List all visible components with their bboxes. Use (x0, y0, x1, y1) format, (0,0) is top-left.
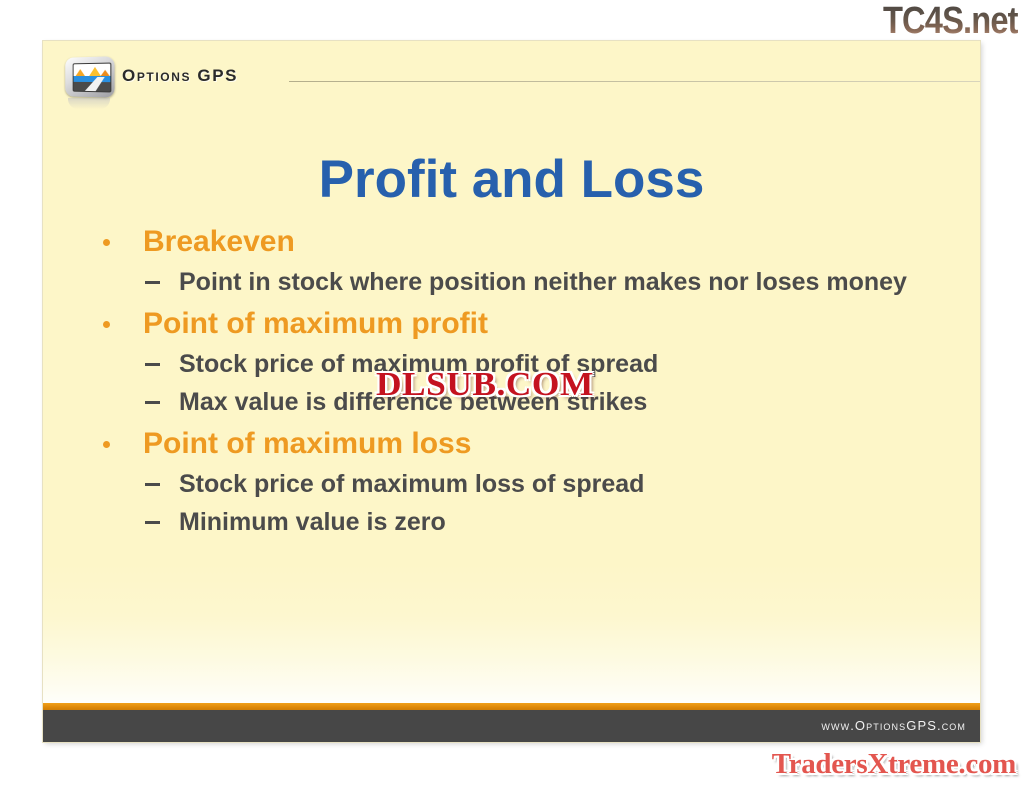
bullet-dash-icon (145, 483, 160, 486)
bullet-level1: Point of maximum loss (95, 424, 955, 464)
bullet-group-breakeven: Breakeven Point in stock where position … (95, 222, 955, 300)
slide-header: Options GPS (43, 41, 980, 103)
bullet-level2-label: Stock price of maximum loss of spread (179, 470, 644, 498)
bullet-level2-label: Minimum value is zero (179, 508, 446, 536)
bullet-level2: Minimum value is zero (95, 504, 955, 540)
bullet-level1-label: Breakeven (143, 225, 295, 258)
gps-device-screen (73, 63, 112, 93)
bullet-level2-label: Point in stock where position neither ma… (179, 268, 907, 296)
dlsub-watermark: DLSUB.COM (376, 366, 594, 404)
bullet-level1-label: Point of maximum profit (143, 307, 488, 340)
slide-footer: www.OptionsGPS.com (43, 710, 980, 742)
bullet-dot-icon (103, 239, 110, 246)
slide-title: Profit and Loss (43, 149, 980, 210)
bullet-level2: Stock price of maximum loss of spread (95, 466, 955, 502)
bullet-level1: Point of maximum profit (95, 304, 955, 344)
bullet-level1: Breakeven (95, 222, 955, 262)
bullet-level1-label: Point of maximum loss (143, 427, 471, 460)
bullet-dash-icon (145, 281, 160, 284)
tc4s-logo: TC4S.net (883, 2, 1018, 40)
bullet-dot-icon (103, 321, 110, 328)
footer-accent-bar (43, 703, 980, 710)
logo-wordmark: Options GPS (122, 66, 238, 86)
bullet-level2: Point in stock where position neither ma… (95, 264, 955, 300)
tradersxtreme-logo: TradersXtreme.com (772, 748, 1016, 781)
bullet-dash-icon (145, 521, 160, 524)
bullet-dash-icon (145, 363, 160, 366)
bullet-dash-icon (145, 401, 160, 404)
gps-device-reflection (68, 98, 110, 109)
header-divider-rule (289, 81, 980, 82)
footer-url-text: www.OptionsGPS.com (821, 718, 966, 733)
bullet-dot-icon (103, 441, 110, 448)
presentation-slide: Options GPS Profit and Loss Breakeven Po… (43, 41, 980, 742)
bullet-group-max-loss: Point of maximum loss Stock price of max… (95, 424, 955, 540)
gps-device-body (65, 56, 114, 98)
gps-device-icon (62, 57, 116, 103)
